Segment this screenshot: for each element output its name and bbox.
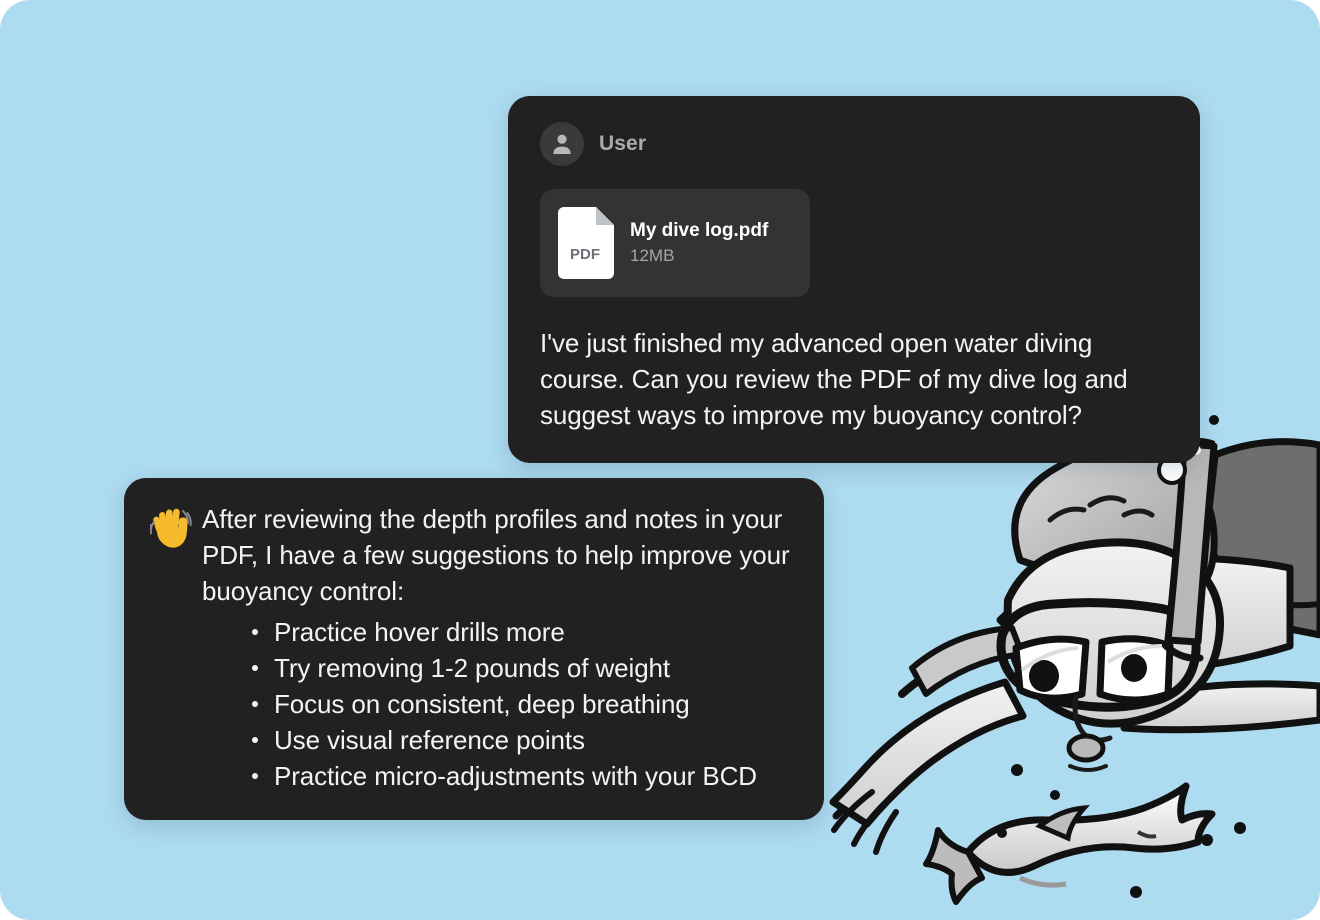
user-message-header: User xyxy=(508,96,1200,166)
assistant-message-bubble: After reviewing the depth profiles and n… xyxy=(124,478,824,820)
assistant-intro-row: After reviewing the depth profiles and n… xyxy=(150,502,796,610)
list-item: Try removing 1-2 pounds of weight xyxy=(248,650,796,686)
attachment-card[interactable]: PDF My dive log.pdf 12MB xyxy=(540,189,810,297)
sender-name: User xyxy=(599,132,646,156)
list-item: Practice micro-adjustments with your BCD xyxy=(248,758,796,794)
assistant-suggestion-list: Practice hover drills more Try removing … xyxy=(150,614,796,794)
user-message-bubble: User PDF My dive log.pdf 12MB I've just … xyxy=(508,96,1200,463)
attachment-meta: My dive log.pdf 12MB xyxy=(630,220,768,266)
attachment-size: 12MB xyxy=(630,246,768,266)
user-message-text: I've just finished my advanced open wate… xyxy=(508,297,1200,463)
page-canvas: User PDF My dive log.pdf 12MB I've just … xyxy=(0,0,1320,920)
avatar xyxy=(540,122,584,166)
assistant-paragraph: After reviewing the depth profiles and n… xyxy=(202,502,796,610)
attachment-name: My dive log.pdf xyxy=(630,220,768,242)
list-item: Use visual reference points xyxy=(248,722,796,758)
list-item: Focus on consistent, deep breathing xyxy=(248,686,796,722)
pdf-file-icon: PDF xyxy=(558,207,614,279)
pdf-icon-label: PDF xyxy=(570,246,600,263)
waving-hand-emoji xyxy=(150,506,192,548)
person-icon xyxy=(549,131,575,157)
list-item: Practice hover drills more xyxy=(248,614,796,650)
